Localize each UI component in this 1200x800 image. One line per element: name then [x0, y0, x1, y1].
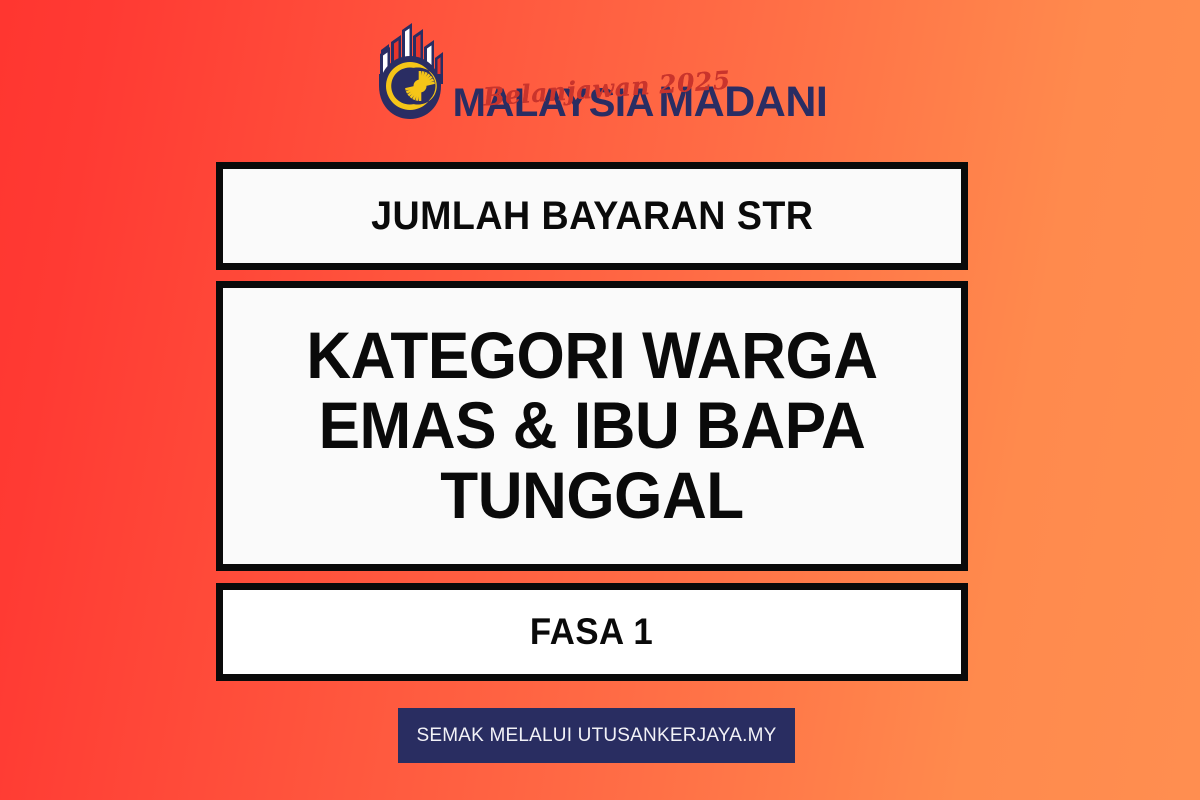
semak-banner[interactable]: SEMAK MELALUI UTUSANKERJAYA.MY — [398, 708, 795, 763]
logo-wordmark: Belanjawan 2025 MALAYSIA MADANI — [453, 80, 828, 122]
phase-panel-fasa: FASA 1 — [216, 583, 968, 681]
title-text: KATEGORI WARGA EMAS & IBU BAPA TUNGGAL — [245, 321, 939, 531]
phase-text: FASA 1 — [530, 611, 653, 653]
logo-header: Belanjawan 2025 MALAYSIA MADANI — [0, 14, 1200, 122]
heading-text: JUMLAH BAYARAN STR — [371, 194, 813, 239]
madani-crescent-star-icon — [373, 14, 447, 122]
semak-banner-text: SEMAK MELALUI UTUSANKERJAYA.MY — [416, 725, 776, 747]
malaysia-madani-logo: Belanjawan 2025 MALAYSIA MADANI — [373, 14, 828, 122]
title-panel-kategori: KATEGORI WARGA EMAS & IBU BAPA TUNGGAL — [216, 281, 968, 571]
heading-panel-jumlah-bayaran: JUMLAH BAYARAN STR — [216, 162, 968, 270]
